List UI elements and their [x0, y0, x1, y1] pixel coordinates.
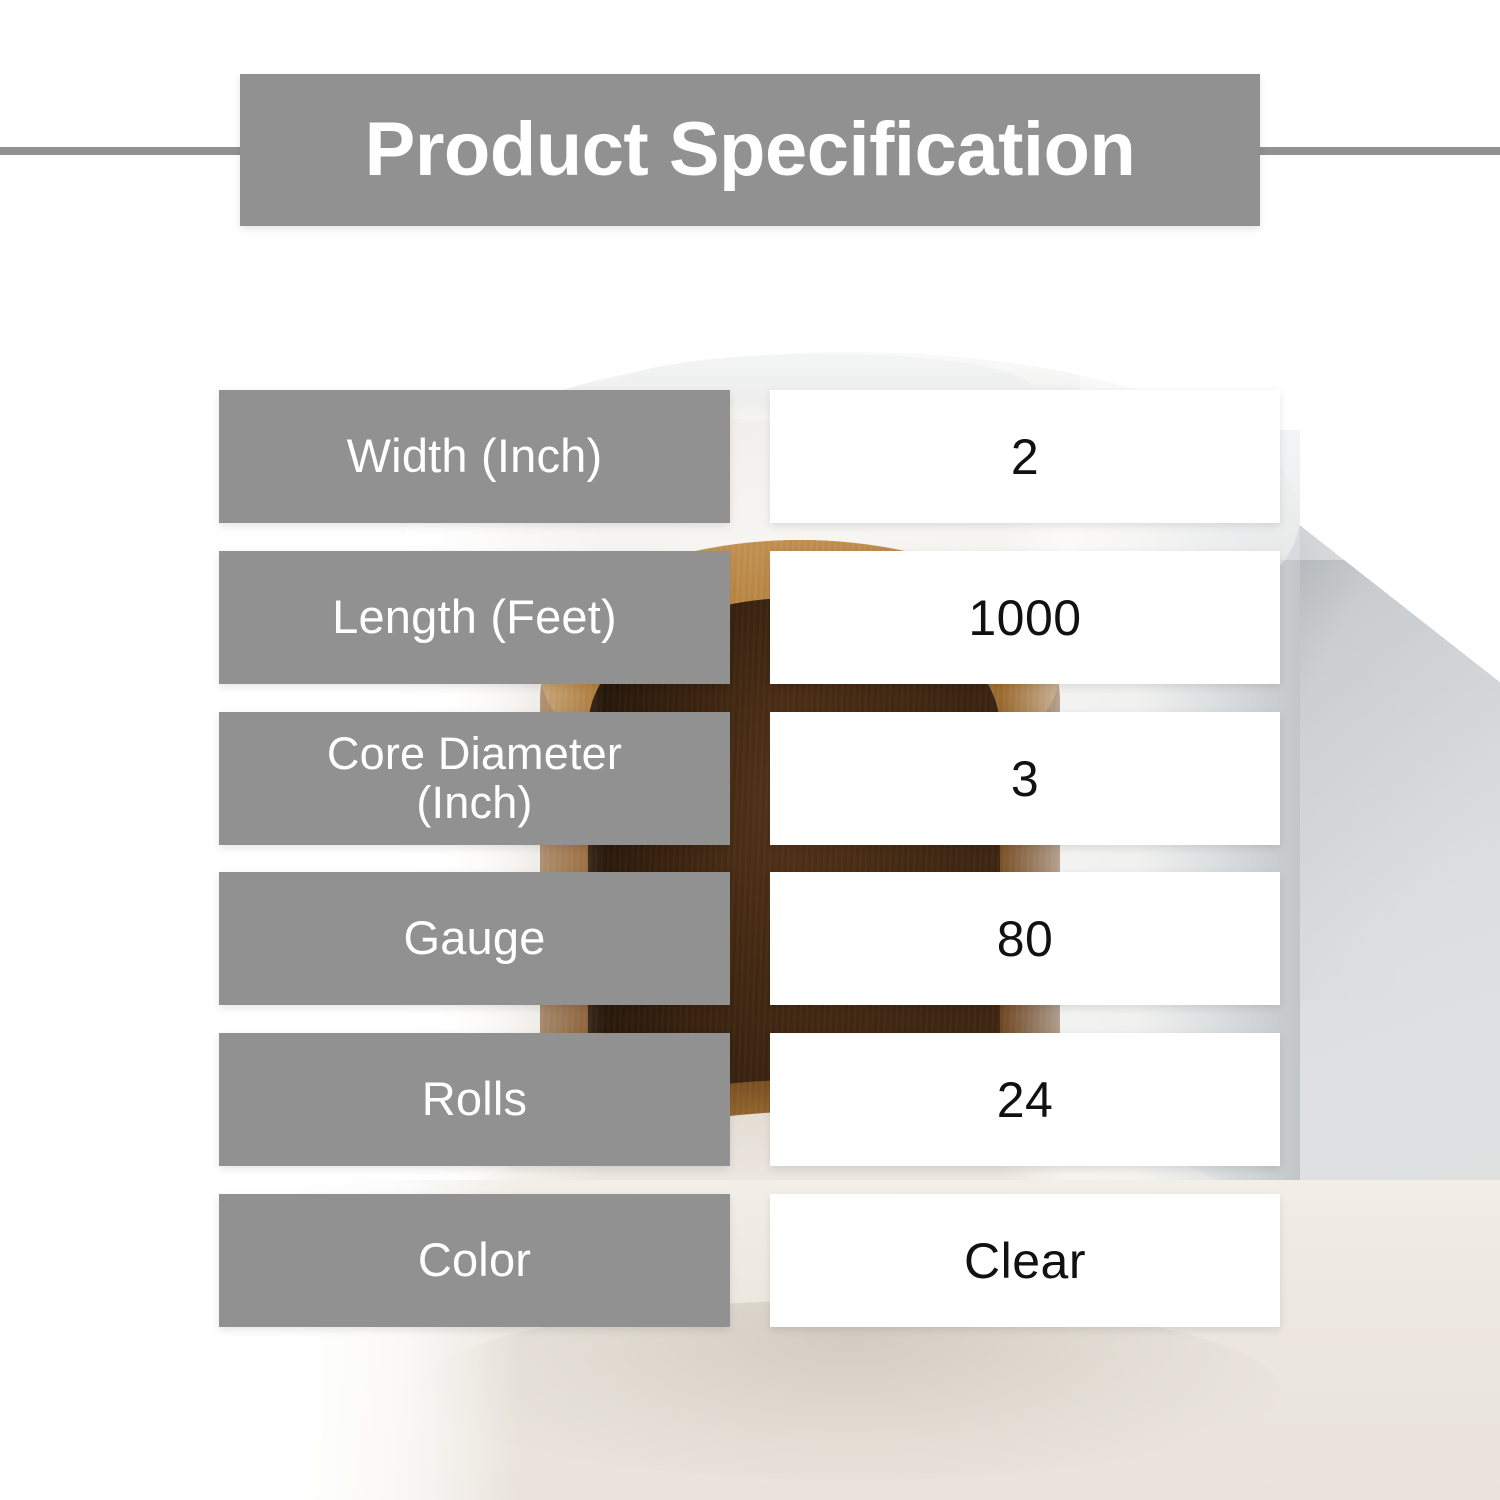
- spec-value-cell-color: Clear: [770, 1194, 1280, 1327]
- spec-label-length: Length (Feet): [322, 592, 627, 643]
- table-row: Core Diameter (Inch) 3: [0, 712, 1500, 845]
- spec-value-gauge: 80: [997, 914, 1054, 964]
- spec-value-core-diameter: 3: [1011, 754, 1039, 804]
- spec-label-color: Color: [408, 1235, 541, 1286]
- spec-label-width: Width (Inch): [337, 431, 613, 482]
- spec-label-core-diameter-line1: Core Diameter: [327, 728, 622, 779]
- table-row: Length (Feet) 1000: [0, 551, 1500, 684]
- spec-label-core-diameter-line2: (Inch): [416, 777, 532, 828]
- spec-label-cell-gauge: Gauge: [219, 872, 730, 1005]
- spec-value-cell-core-diameter: 3: [770, 712, 1280, 845]
- product-specification-card: Product Specification Width (Inch) 2 Len…: [0, 0, 1500, 1500]
- specification-table: Width (Inch) 2 Length (Feet) 1000 Core D…: [0, 0, 1500, 1500]
- table-row: Gauge 80: [0, 872, 1500, 1005]
- table-row: Color Clear: [0, 1194, 1500, 1327]
- spec-value-cell-width: 2: [770, 390, 1280, 523]
- spec-label-cell-length: Length (Feet): [219, 551, 730, 684]
- table-row: Rolls 24: [0, 1033, 1500, 1166]
- spec-label-gauge: Gauge: [393, 913, 555, 964]
- spec-value-length: 1000: [968, 593, 1081, 643]
- spec-value-color: Clear: [964, 1236, 1086, 1286]
- spec-label-cell-rolls: Rolls: [219, 1033, 730, 1166]
- spec-value-width: 2: [1011, 432, 1039, 482]
- spec-label-cell-width: Width (Inch): [219, 390, 730, 523]
- spec-label-core-diameter: Core Diameter (Inch): [317, 730, 632, 827]
- spec-label-cell-core-diameter: Core Diameter (Inch): [219, 712, 730, 845]
- spec-value-cell-gauge: 80: [770, 872, 1280, 1005]
- spec-label-rolls: Rolls: [412, 1074, 537, 1125]
- table-row: Width (Inch) 2: [0, 390, 1500, 523]
- spec-label-cell-color: Color: [219, 1194, 730, 1327]
- spec-value-cell-length: 1000: [770, 551, 1280, 684]
- spec-value-cell-rolls: 24: [770, 1033, 1280, 1166]
- spec-value-rolls: 24: [997, 1075, 1054, 1125]
